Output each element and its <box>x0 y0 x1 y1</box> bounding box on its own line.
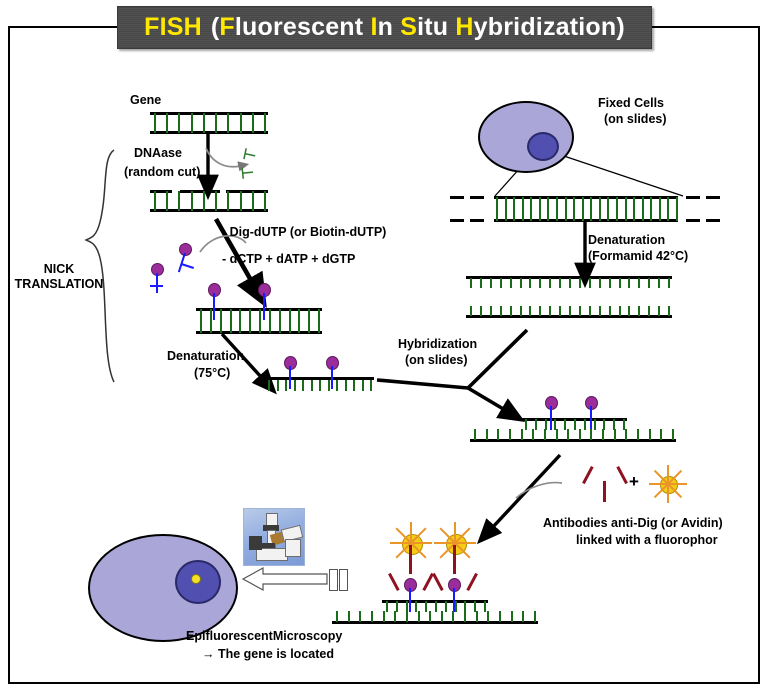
dna-rung <box>579 278 581 288</box>
dna-rung <box>268 380 270 391</box>
dna-rung <box>590 197 592 221</box>
dna-rung <box>559 306 561 316</box>
dna-rung <box>589 306 591 316</box>
dna-rung <box>660 429 662 440</box>
dna-rung <box>474 429 476 440</box>
dna-rung <box>522 197 524 221</box>
dna-rung <box>607 197 609 221</box>
label-fixed-cells: Fixed Cells <box>598 96 664 111</box>
enzyme-glyph: ⊢ <box>240 165 255 181</box>
dig-attachment-point <box>331 377 333 389</box>
dna-rung <box>298 309 300 333</box>
dna-rung <box>534 611 536 622</box>
dna-rung <box>672 429 674 440</box>
dna-rung <box>311 380 313 391</box>
label-hybridization-sub: (on slides) <box>405 353 468 368</box>
dna-final-target-strand <box>332 610 538 624</box>
dna-rung <box>579 429 581 440</box>
dna-nicked-duplex <box>150 190 268 212</box>
fish-diagram-page: FISH(Fluorescent In Situ Hybridization) <box>0 0 769 695</box>
dna-rung <box>230 309 232 333</box>
dna-rung <box>658 278 660 288</box>
dna-rung <box>539 306 541 316</box>
dna-rung <box>191 191 193 211</box>
label-denaturation-probe: Denaturation <box>167 349 244 364</box>
slide-icon <box>329 569 338 591</box>
dna-rung <box>490 278 492 288</box>
dna-rung <box>487 611 489 622</box>
dna-rung <box>573 197 575 221</box>
dna-rung <box>154 191 156 211</box>
dna-rung <box>166 113 168 133</box>
dna-rung <box>642 197 644 221</box>
dna-rung <box>308 309 310 333</box>
dna-rung <box>215 113 217 133</box>
dna-chromosome <box>450 196 720 222</box>
fixed-cell-nucleus <box>527 132 559 161</box>
dna-rung <box>599 278 601 288</box>
dna-rung <box>464 611 466 622</box>
dna-rung <box>625 429 627 440</box>
dna-rung <box>429 611 431 622</box>
dna-rung <box>549 278 551 288</box>
dna-rung <box>510 278 512 288</box>
dna-rung <box>559 278 561 288</box>
page-title: FISH(Fluorescent In Situ Hybridization) <box>144 13 625 42</box>
label-denaturation-probe-temp: (75°C) <box>194 366 230 381</box>
dna-rung <box>510 306 512 316</box>
dna-rung <box>269 309 271 333</box>
dna-rung <box>513 197 515 221</box>
label-dntps: - dCTP + dATP + dGTP <box>222 252 355 267</box>
slide-icon <box>339 569 348 591</box>
dna-denatured-strand-top <box>466 276 672 288</box>
plus-sign: + <box>629 474 639 489</box>
dna-rung <box>359 611 361 622</box>
dna-rung <box>602 429 604 440</box>
dna-rung <box>521 429 523 440</box>
label-hybridization: Hybridization <box>398 337 477 352</box>
dig-attachment-point <box>289 377 291 389</box>
dna-rung <box>549 306 551 316</box>
dna-rung <box>544 429 546 440</box>
dna-rung <box>227 113 229 133</box>
dna-rung <box>441 611 443 622</box>
label-antibodies: Antibodies anti-Dig (or Avidin) <box>543 516 723 531</box>
dna-rung <box>370 380 372 391</box>
dna-rung <box>650 197 652 221</box>
dna-rung <box>659 197 661 221</box>
dna-rung <box>490 306 492 316</box>
dna-rung <box>532 429 534 440</box>
label-dig-dutp: - Dig-dUTP (or Biotin-dUTP) <box>222 225 386 240</box>
dna-rung <box>499 611 501 622</box>
dna-rung <box>609 278 611 288</box>
dna-rung <box>154 113 156 133</box>
microscope-photo <box>243 508 305 566</box>
dna-rung <box>294 380 296 391</box>
dna-rung <box>371 611 373 622</box>
dna-rung <box>500 278 502 288</box>
dna-rung <box>191 113 193 133</box>
dna-rung <box>565 197 567 221</box>
dna-rung <box>511 611 513 622</box>
dna-rung <box>529 278 531 288</box>
dna-rung <box>633 197 635 221</box>
dna-rail-segment <box>226 190 268 193</box>
dna-rung <box>625 197 627 221</box>
dna-rung <box>619 306 621 316</box>
label-denaturation-cells-sub: (Formamid 42°C) <box>588 249 688 264</box>
dna-rung <box>638 306 640 316</box>
dna-rung <box>486 429 488 440</box>
dna-rung <box>590 429 592 440</box>
dna-rung <box>509 429 511 440</box>
dna-rung <box>619 278 621 288</box>
dna-rung <box>599 306 601 316</box>
dna-rung <box>676 197 678 221</box>
fluorescent-signal-spot <box>191 574 201 584</box>
dna-rung <box>203 113 205 133</box>
dna-rung <box>178 113 180 133</box>
dna-rung <box>539 197 541 221</box>
dna-rung <box>289 309 291 333</box>
dna-rung <box>203 191 205 211</box>
dna-rung <box>505 197 507 221</box>
dna-rung <box>406 611 408 622</box>
dna-rung <box>383 611 385 622</box>
fixed-cell-body <box>478 101 574 173</box>
dna-rung <box>302 380 304 391</box>
dna-rung <box>336 380 338 391</box>
dna-rung <box>616 197 618 221</box>
dna-rung <box>579 306 581 316</box>
dna-rung <box>200 309 202 333</box>
dna-rung <box>480 278 482 288</box>
dna-rung <box>500 306 502 316</box>
dna-rung <box>520 278 522 288</box>
dna-rung <box>353 380 355 391</box>
dna-rung <box>336 611 338 622</box>
fluorophore-sun-icon <box>648 464 688 504</box>
dna-probe-single-strand <box>264 377 374 391</box>
dna-rung <box>648 278 650 288</box>
antibody-y-icon <box>590 466 620 502</box>
dna-rung <box>522 611 524 622</box>
label-fixed-cells-sub: (on slides) <box>604 112 667 127</box>
label-antibodies-sub: linked with a fluorophor <box>576 533 718 548</box>
dna-rung <box>362 380 364 391</box>
label-microscopy: EpifluorescentMicroscopy <box>186 629 342 644</box>
dna-rung <box>539 278 541 288</box>
dna-rung <box>210 309 212 333</box>
label-dnaase-sub: (random cut) <box>124 165 200 180</box>
dna-rung <box>567 429 569 440</box>
dna-rung <box>497 429 499 440</box>
dna-rung <box>328 380 330 391</box>
dna-denatured-strand-bottom <box>466 306 672 318</box>
dna-rung <box>667 197 669 221</box>
dna-rung <box>470 278 472 288</box>
dna-rung <box>178 191 180 211</box>
dna-rung <box>649 429 651 440</box>
dna-rung <box>318 309 320 333</box>
label-translation: TRANSLATION <box>6 277 112 292</box>
label-gene-located: → The gene is located <box>202 647 334 662</box>
dna-rung <box>259 309 261 333</box>
dna-rung <box>556 197 558 221</box>
dna-rung <box>264 191 266 211</box>
dna-hybrid-target-strand <box>470 428 676 442</box>
dna-rung <box>599 197 601 221</box>
dna-rung <box>529 306 531 316</box>
dna-rung <box>628 306 630 316</box>
dna-rung <box>480 306 482 316</box>
dna-gene-duplex <box>150 112 268 134</box>
dna-rung <box>418 611 420 622</box>
dna-rung <box>239 309 241 333</box>
label-denaturation-cells: Denaturation <box>588 233 665 248</box>
dna-rung <box>240 113 242 133</box>
dna-rung <box>668 278 670 288</box>
dna-rung <box>348 611 350 622</box>
title-bar: FISH(Fluorescent In Situ Hybridization) <box>117 6 652 49</box>
dna-rung <box>264 113 266 133</box>
dna-rail-segment <box>180 190 220 193</box>
dna-rung <box>556 429 558 440</box>
dna-rung <box>609 306 611 316</box>
dna-rung <box>589 278 591 288</box>
dna-rung <box>345 380 347 391</box>
dna-rung <box>394 611 396 622</box>
dna-rung <box>569 278 571 288</box>
dna-rung <box>520 306 522 316</box>
dna-rung <box>668 306 670 316</box>
dna-rung <box>530 197 532 221</box>
dna-rung <box>279 309 281 333</box>
dna-rung <box>252 113 254 133</box>
dna-rung <box>452 611 454 622</box>
dna-rung <box>658 306 660 316</box>
dna-rung <box>582 197 584 221</box>
dna-rung <box>628 278 630 288</box>
dna-rung <box>547 197 549 221</box>
dna-rung <box>215 191 217 211</box>
dna-rung <box>470 306 472 316</box>
dna-rung <box>476 611 478 622</box>
dna-rung <box>569 306 571 316</box>
label-dnaase: DNAase <box>134 146 182 161</box>
dna-rung <box>277 380 279 391</box>
dna-rung <box>496 197 498 221</box>
dna-rung <box>220 309 222 333</box>
dna-rung <box>285 380 287 391</box>
dna-rung <box>240 191 242 211</box>
dna-rung <box>637 429 639 440</box>
dig-attachment-point <box>213 308 215 320</box>
dna-rung <box>638 278 640 288</box>
dna-rung <box>648 306 650 316</box>
dna-labeled-duplex <box>196 308 322 334</box>
dna-rung <box>614 429 616 440</box>
label-nick: NICK <box>20 262 98 277</box>
dig-attachment-point <box>263 308 265 320</box>
dna-rung <box>249 309 251 333</box>
label-gene: Gene <box>130 93 161 108</box>
dna-rung <box>227 191 229 211</box>
dna-rung <box>252 191 254 211</box>
dna-rung <box>166 191 168 211</box>
dna-rung <box>319 380 321 391</box>
